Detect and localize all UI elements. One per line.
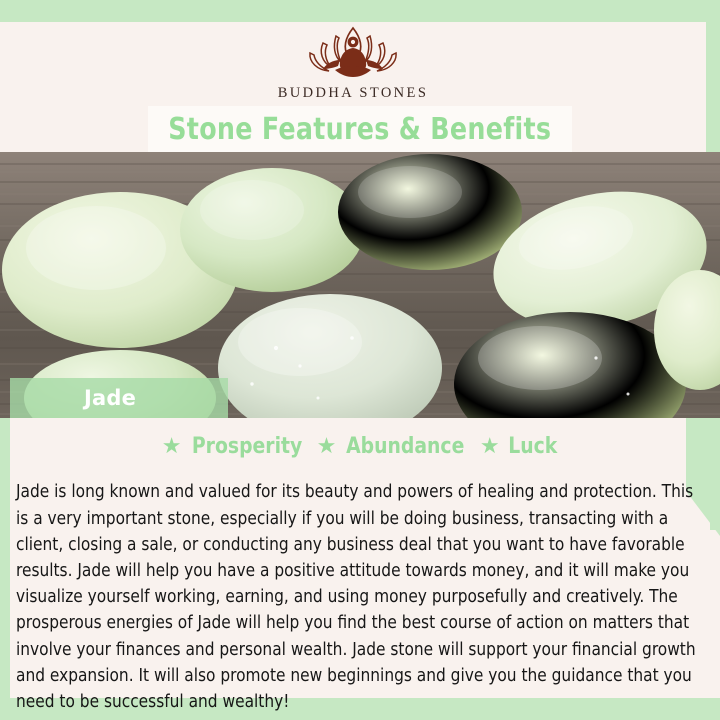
keyword-item: ★ Abundance bbox=[317, 434, 468, 459]
star-icon: ★ bbox=[480, 435, 500, 457]
brand-name: BUDDHA STONES bbox=[278, 85, 429, 102]
keyword-label: Abundance bbox=[347, 434, 465, 459]
keyword-item: ★ Prosperity bbox=[162, 434, 305, 459]
keyword-label: Luck bbox=[508, 434, 557, 459]
stone-features-infographic: BUDDHA STONES Stone Features & Benefits bbox=[0, 0, 720, 720]
page-title: Stone Features & Benefits bbox=[168, 112, 551, 147]
title-banner: Stone Features & Benefits bbox=[148, 106, 572, 152]
keyword-list: ★ Prosperity ★ Abundance ★ Luck bbox=[10, 430, 710, 462]
keyword-label: Prosperity bbox=[191, 434, 301, 459]
stone-name-label: Jade bbox=[84, 386, 136, 410]
description-text: Jade is long known and valued for its be… bbox=[16, 479, 696, 715]
stone-name-band: Jade bbox=[10, 378, 228, 418]
lotus-meditation-icon bbox=[293, 22, 413, 84]
brand-logo: BUDDHA STONES bbox=[0, 22, 706, 110]
star-icon: ★ bbox=[317, 435, 337, 457]
keyword-item: ★ Luck bbox=[480, 434, 558, 459]
star-icon: ★ bbox=[162, 435, 182, 457]
